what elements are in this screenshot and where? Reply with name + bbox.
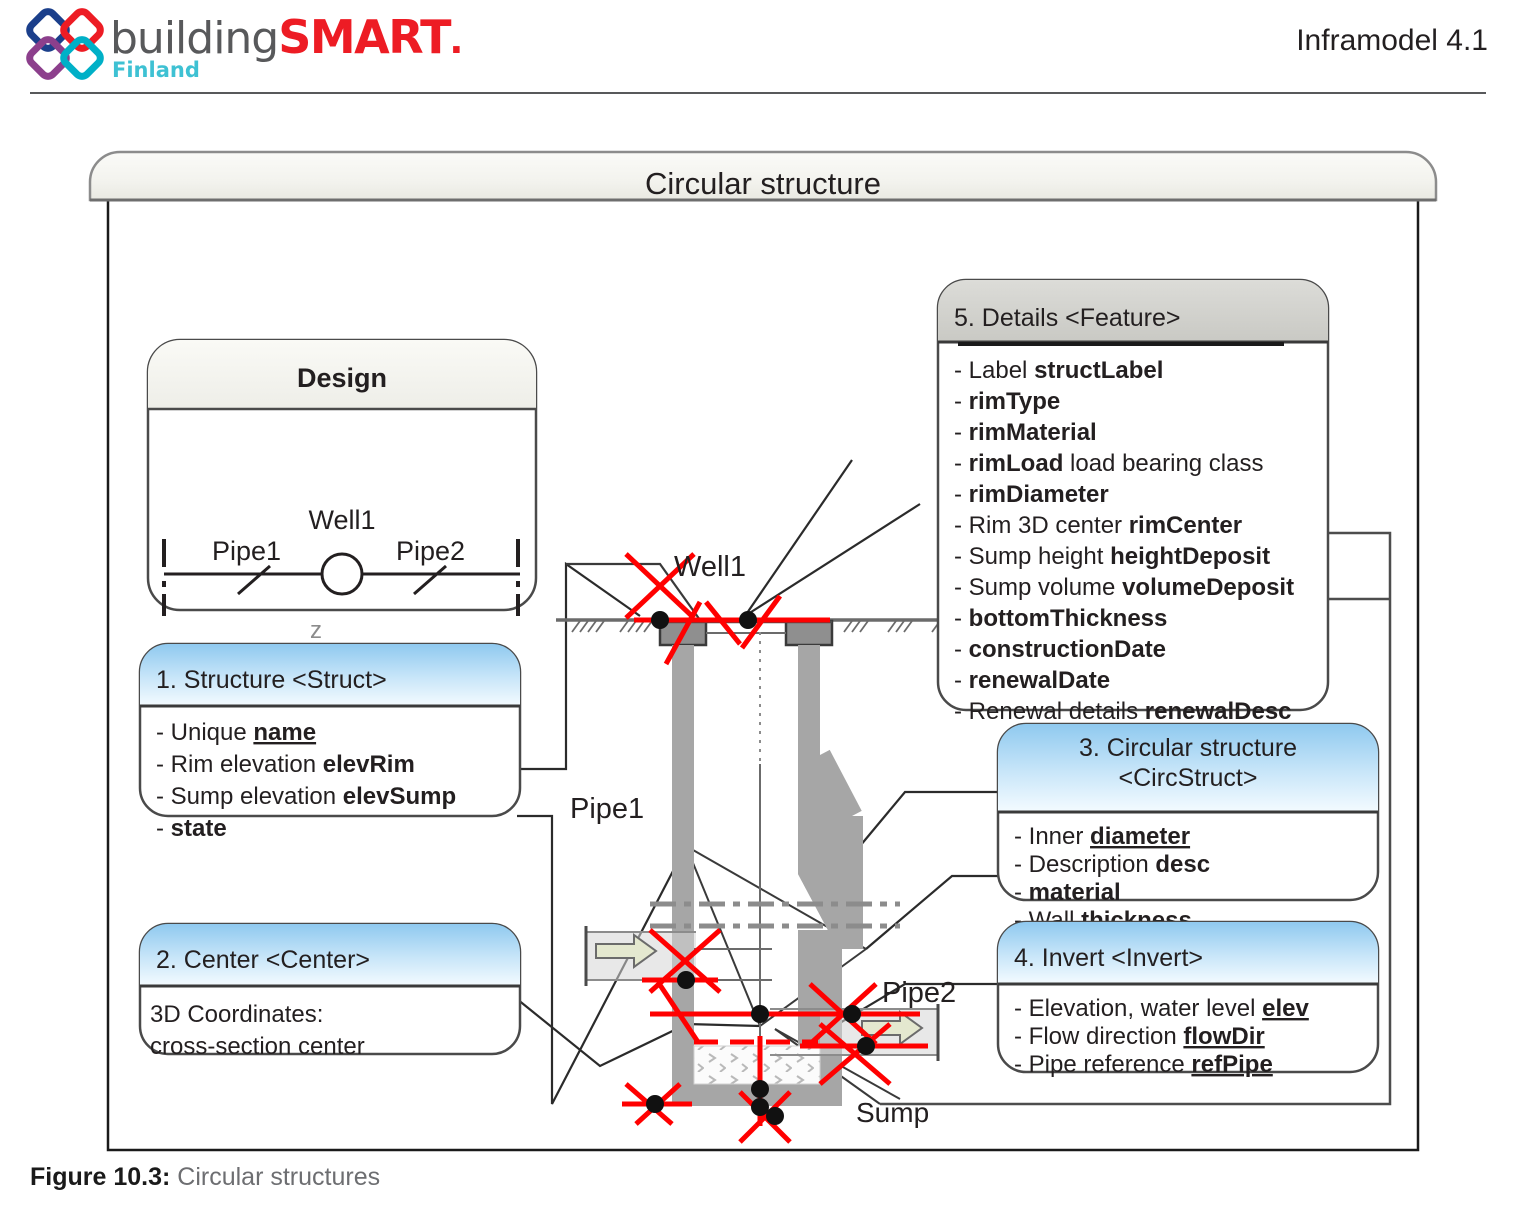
details-item-4: - rimDiameter [954, 481, 1109, 508]
figure-caption-text: Circular structures [170, 1163, 380, 1191]
design-box-title: Design [297, 363, 387, 393]
structure-item-3: - state [156, 815, 227, 842]
invert-item-1: - Flow direction flowDir [1014, 1023, 1265, 1050]
node-pipe1-invert [677, 971, 695, 989]
figure-caption: Figure 10.3: Circular structures [30, 1163, 380, 1192]
details-item-9: - constructionDate [954, 636, 1166, 663]
design-well-label: Well1 [308, 505, 375, 535]
center-item-0: 3D Coordinates: [150, 1001, 323, 1028]
invert-item-0: - Elevation, water level elev [1014, 995, 1309, 1022]
logo-smart-text: SMART [278, 10, 450, 64]
structure-item-1: - Rim elevation elevRim [156, 751, 415, 778]
page-header: buildingSMART. Finland Inframodel 4.1 [0, 0, 1514, 96]
details-item-2: - rimMaterial [954, 419, 1097, 446]
node-bottom-left [646, 1095, 664, 1113]
node-bottom-thickness [766, 1107, 784, 1125]
circstruct-box-title: 3. Circular structure [1079, 734, 1297, 762]
figure-caption-label: Figure 10.3: [30, 1163, 170, 1191]
structure-item-2: - Sump elevation elevSump [156, 783, 456, 810]
circstruct-item-2: - material [1014, 879, 1121, 906]
invert-item-2: - Pipe reference refPipe [1014, 1051, 1273, 1078]
node-sump-base [751, 1098, 769, 1116]
logo-finland-text: Finland [112, 58, 200, 82]
rim-cap-right [786, 621, 832, 645]
design-pipe2-label: Pipe2 [396, 536, 465, 566]
document-title: Inframodel 4.1 [1296, 24, 1488, 58]
uml-box-details: 5. Details <Feature> - Label structLabel… [938, 280, 1328, 725]
circstruct-box-subtitle: <CircStruct> [1119, 764, 1258, 792]
node-center-pipe [751, 1005, 769, 1023]
node-rim-center [739, 611, 757, 629]
sump-label: Sump [856, 1097, 929, 1128]
container-title: Circular structure [645, 166, 881, 201]
details-item-11: - Renewal details renewalDesc [954, 698, 1292, 725]
design-well-symbol [322, 554, 362, 594]
details-item-1: - rimType [954, 388, 1060, 415]
structure-box-title: 1. Structure <Struct> [156, 666, 387, 694]
logo-dot: . [450, 11, 463, 63]
buildingsmart-logo: buildingSMART. Finland [26, 6, 426, 86]
details-item-6: - Sump height heightDeposit [954, 543, 1270, 570]
uml-box-center: 2. Center <Center> 3D Coordinates: cross… [140, 924, 520, 1060]
details-item-10: - renewalDate [954, 667, 1110, 694]
circular-structure-diagram: Circular structure [0, 104, 1514, 1154]
details-item-3: - rimLoad load bearing class [954, 450, 1263, 477]
well-label: Well1 [674, 551, 746, 583]
axis-z-label: z [310, 617, 322, 644]
invert-box-title: 4. Invert <Invert> [1014, 944, 1203, 972]
pipe2-label: Pipe2 [882, 977, 956, 1009]
well-wall-right-upper [798, 645, 820, 755]
uml-box-structure: 1. Structure <Struct> - Unique name - Ri… [140, 644, 520, 842]
node-pipe2-invert [857, 1037, 875, 1055]
center-item-1: cross-section center [150, 1033, 365, 1060]
node-pipe2-upper [843, 1005, 861, 1023]
design-pipe1-label: Pipe1 [212, 536, 281, 566]
node-sump-mid [751, 1080, 769, 1098]
node-rim-left [651, 611, 669, 629]
details-item-7: - Sump volume volumeDeposit [954, 574, 1294, 601]
details-item-8: - bottomThickness [954, 605, 1167, 632]
pipe1-label: Pipe1 [570, 793, 644, 825]
circstruct-item-0: - Inner diameter [1014, 823, 1190, 850]
details-item-0: - Label structLabel [954, 357, 1163, 384]
buildingsmart-logo-mark [26, 8, 104, 80]
circstruct-item-1: - Description desc [1014, 851, 1210, 878]
header-divider [30, 92, 1486, 94]
details-box-title: 5. Details <Feature> [954, 304, 1181, 332]
logo-building-text: building [110, 13, 278, 64]
center-box-title: 2. Center <Center> [156, 946, 370, 974]
structure-item-0: - Unique name [156, 719, 316, 746]
details-item-5: - Rim 3D center rimCenter [954, 512, 1242, 539]
uml-box-invert: 4. Invert <Invert> - Elevation, water le… [998, 922, 1378, 1078]
